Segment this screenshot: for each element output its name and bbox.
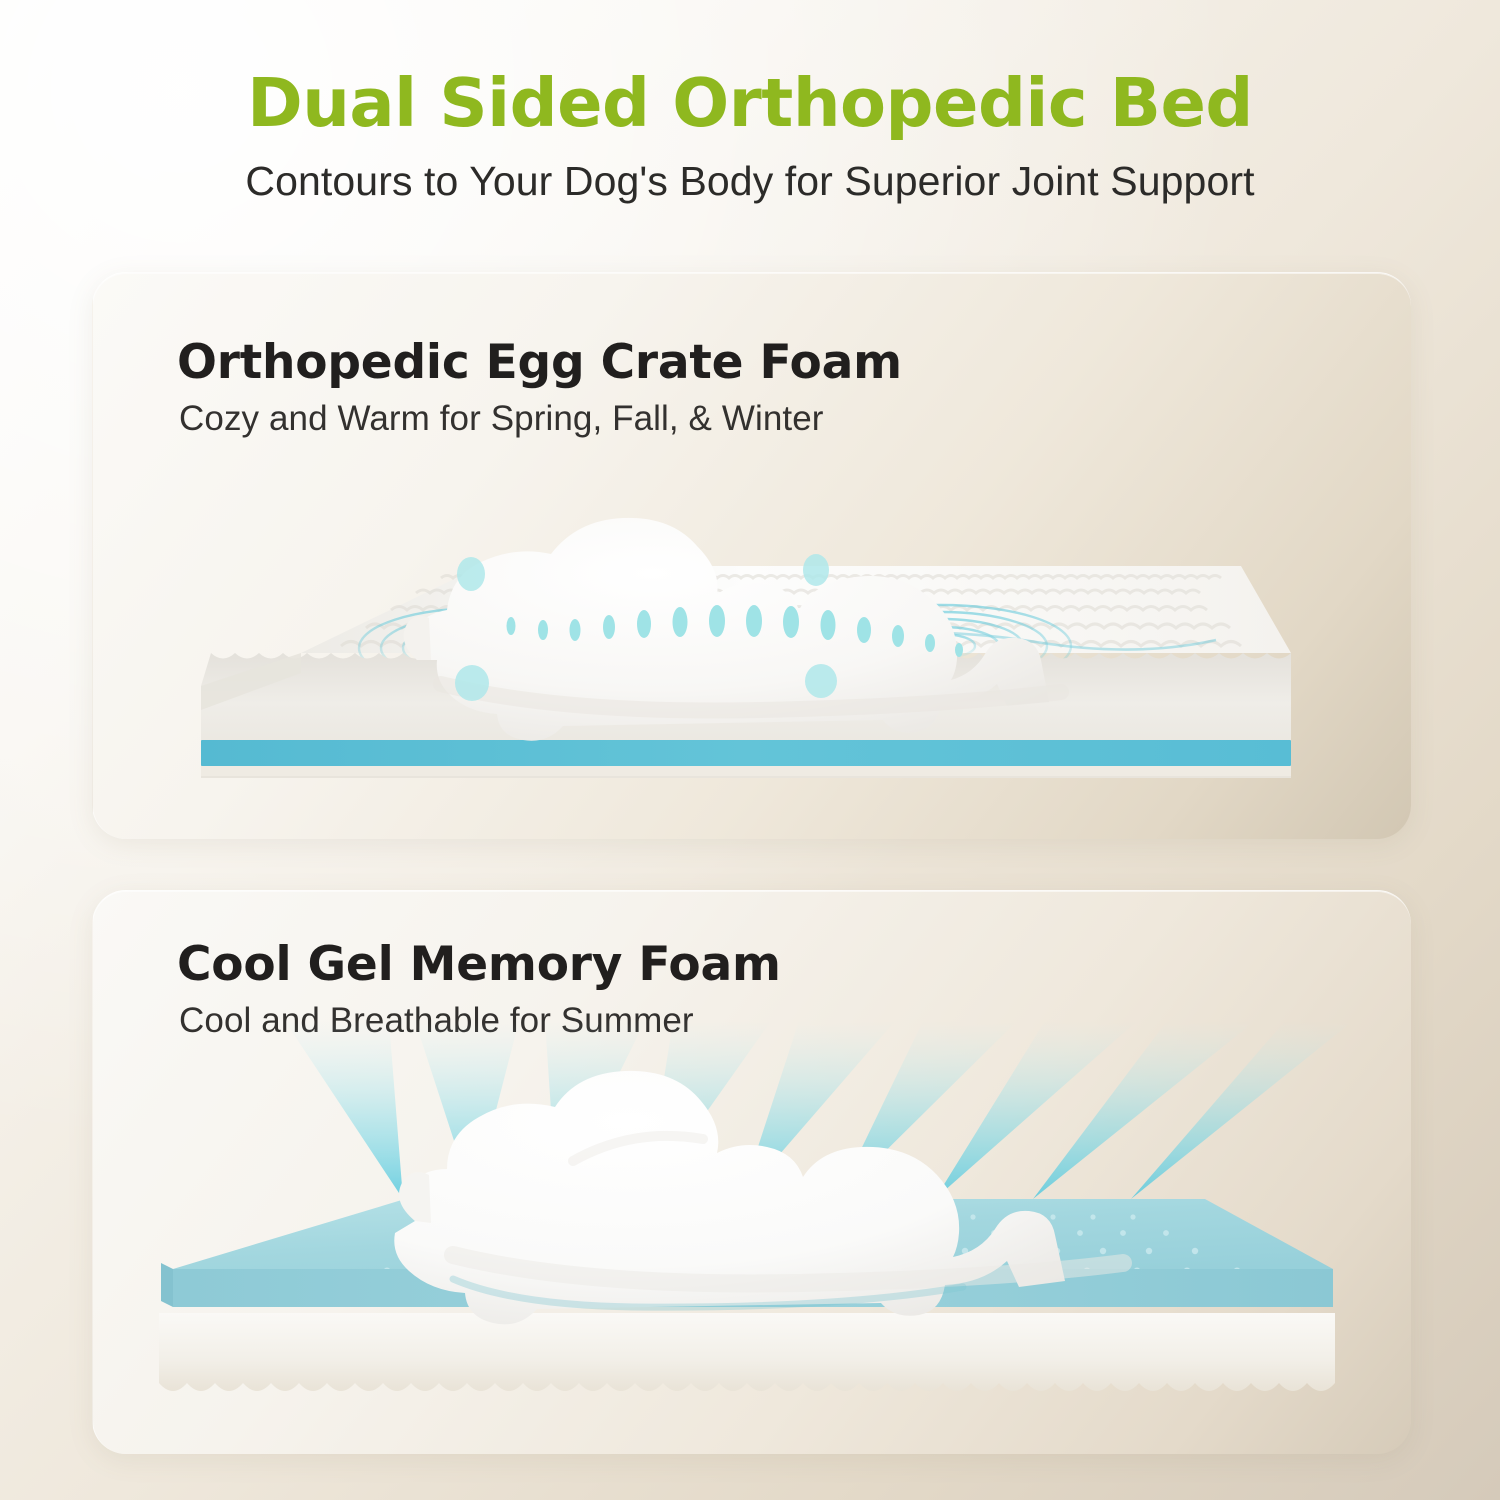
card-title: Cool Gel Memory Foam	[177, 937, 781, 992]
white-egg-crate-base	[159, 1313, 1335, 1391]
feature-card-cool-gel-memory-foam: Cool Gel Memory Foam Cool and Breathable…	[92, 890, 1411, 1454]
gel-memory-foam-slab-with-dog-illustration	[153, 1021, 1353, 1441]
page-subtitle: Contours to Your Dog's Body for Superior…	[0, 138, 1500, 206]
teal-base-band	[201, 740, 1291, 766]
card-title: Orthopedic Egg Crate Foam	[177, 335, 902, 390]
page-title: Dual Sided Orthopedic Bed	[0, 0, 1500, 138]
card-subtitle: Cozy and Warm for Spring, Fall, & Winter	[179, 399, 824, 439]
feature-card-orthopedic-egg-crate-foam: Orthopedic Egg Crate Foam Cozy and Warm …	[92, 272, 1411, 839]
egg-crate-foam-slab-with-dog-illustration	[181, 478, 1331, 813]
header: Dual Sided Orthopedic Bed Contours to Yo…	[0, 0, 1500, 207]
infographic-page: Dual Sided Orthopedic Bed Contours to Yo…	[0, 0, 1500, 1500]
